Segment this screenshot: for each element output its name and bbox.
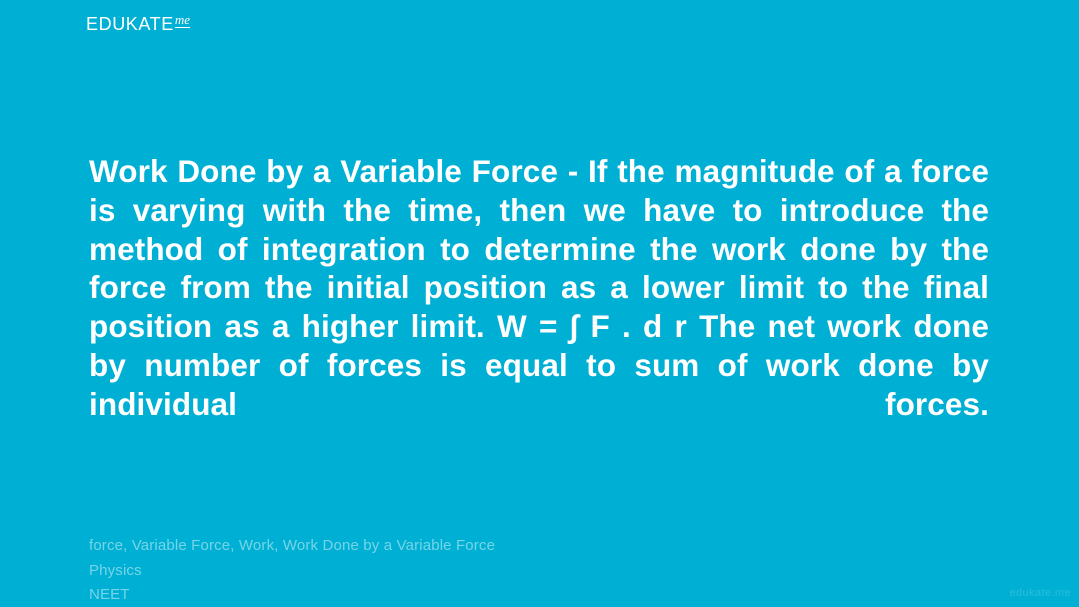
brand-logo[interactable]: EDUKATE me [86, 14, 190, 34]
footer-metadata: force, Variable Force, Work, Work Done b… [89, 534, 969, 607]
brand-suffix: me [175, 13, 190, 28]
slide-canvas: EDUKATE me Work Done by a Variable Force… [0, 0, 1079, 607]
corner-watermark: edukate.me [1010, 587, 1071, 599]
brand-name: EDUKATE [86, 14, 174, 34]
footer-exam: NEET [89, 583, 969, 607]
footer-tags: force, Variable Force, Work, Work Done b… [89, 534, 969, 559]
footer-subject: Physics [89, 559, 969, 584]
slide-body-text: Work Done by a Variable Force - If the m… [89, 152, 989, 462]
